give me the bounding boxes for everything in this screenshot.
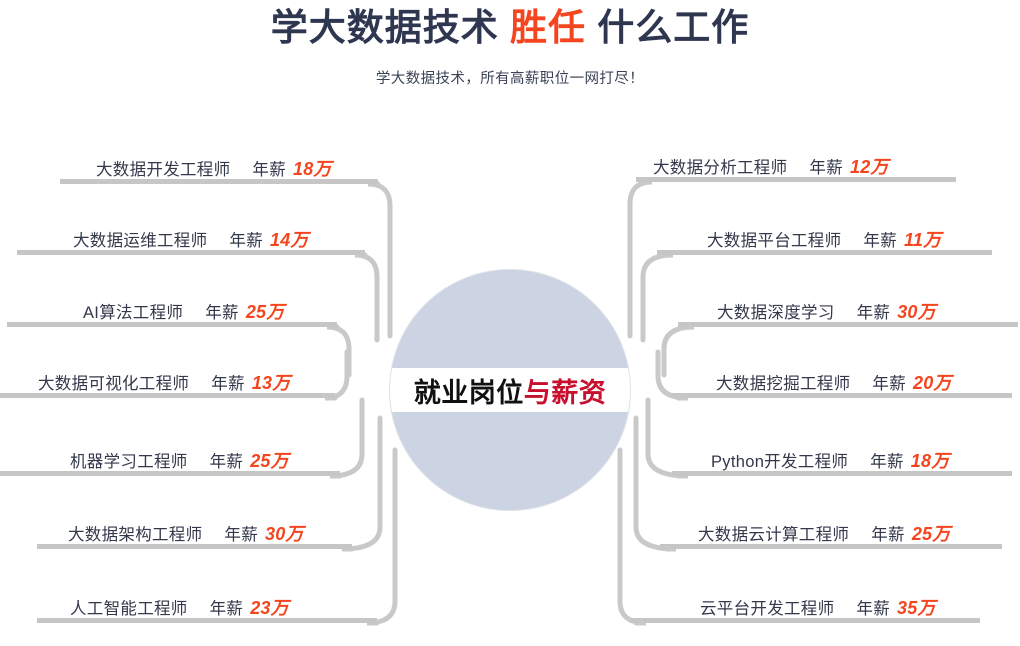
salary-value: 35万 [897, 598, 936, 618]
pay-word: 年薪 [210, 453, 244, 471]
list-item[interactable]: 人工智能工程师年薪23万 [70, 594, 289, 620]
job-title: AI算法工程师 [83, 304, 183, 322]
job-title: 机器学习工程师 [70, 453, 188, 471]
item-rule [672, 471, 1012, 476]
pay-word: 年薪 [863, 232, 897, 250]
job-title: 人工智能工程师 [70, 600, 188, 618]
list-item[interactable]: 大数据分析工程师年薪12万 [653, 153, 889, 179]
item-rule [0, 393, 335, 398]
salary-value: 18万 [911, 451, 950, 471]
item-rule [17, 250, 365, 255]
pay-word: 年薪 [210, 600, 244, 618]
job-title: 大数据平台工程师 [707, 232, 841, 250]
salary-value: 25万 [246, 302, 285, 322]
item-rule [660, 544, 1002, 549]
item-rule [37, 618, 377, 623]
salary-value: 14万 [270, 230, 309, 250]
salary-value: 25万 [912, 524, 951, 544]
item-rule [636, 177, 956, 182]
pay-word: 年薪 [872, 375, 906, 393]
salary-value: 12万 [850, 157, 889, 177]
job-title: Python开发工程师 [711, 453, 848, 471]
job-title: 大数据架构工程师 [68, 526, 202, 544]
list-item[interactable]: 大数据挖掘工程师年薪20万 [716, 369, 952, 395]
wire-right-6 [636, 418, 676, 549]
salary-value: 18万 [293, 159, 332, 179]
wire-right-2 [643, 255, 673, 340]
job-title: 大数据挖掘工程师 [716, 375, 850, 393]
salary-value: 30万 [897, 302, 936, 322]
hub-label: 就业岗位与薪资 [414, 371, 607, 410]
salary-value: 11万 [904, 230, 941, 250]
job-title: 大数据云计算工程师 [698, 526, 849, 544]
pay-word: 年薪 [856, 600, 890, 618]
item-rule [60, 179, 378, 184]
wire-right-3 [664, 327, 694, 375]
pay-word: 年薪 [857, 304, 891, 322]
pay-word: 年薪 [224, 526, 258, 544]
wire-right-5 [648, 400, 688, 476]
wire-left-5 [330, 400, 362, 476]
list-item[interactable]: 大数据平台工程师年薪11万 [707, 226, 941, 252]
job-title: 大数据分析工程师 [653, 159, 787, 177]
job-title: 大数据深度学习 [717, 304, 835, 322]
salary-value: 25万 [250, 451, 289, 471]
item-rule [657, 250, 992, 255]
list-item[interactable]: 大数据深度学习年薪30万 [717, 298, 936, 324]
item-rule [678, 322, 1018, 327]
list-item[interactable]: Python开发工程师年薪18万 [711, 447, 949, 473]
pay-word: 年薪 [871, 526, 905, 544]
salary-value: 20万 [913, 373, 952, 393]
list-item[interactable]: AI算法工程师年薪25万 [83, 298, 284, 324]
wire-left-2 [355, 255, 377, 340]
list-item[interactable]: 大数据运维工程师年薪14万 [73, 226, 309, 252]
pay-word: 年薪 [211, 375, 245, 393]
wire-left-4 [325, 352, 347, 398]
pay-word: 年薪 [205, 304, 239, 322]
item-rule [672, 393, 1012, 398]
pay-word: 年薪 [809, 159, 843, 177]
infographic-canvas: 学大数据技术 胜任 什么工作 学大数据技术，所有高薪职位一网打尽！ 就业岗位与薪… [0, 0, 1020, 646]
list-item[interactable]: 机器学习工程师年薪25万 [70, 447, 289, 473]
item-rule [37, 544, 352, 549]
salary-value: 13万 [252, 373, 291, 393]
hub-label-accent: 与薪资 [524, 378, 607, 408]
job-title: 大数据开发工程师 [96, 161, 230, 179]
pay-word: 年薪 [229, 232, 263, 250]
list-item[interactable]: 大数据云计算工程师年薪25万 [698, 520, 950, 546]
job-title: 云平台开发工程师 [700, 600, 834, 618]
item-rule [0, 471, 340, 476]
center-hub: 就业岗位与薪资 [389, 269, 631, 511]
salary-value: 23万 [250, 598, 289, 618]
item-rule [7, 322, 337, 327]
salary-value: 30万 [265, 524, 304, 544]
list-item[interactable]: 大数据开发工程师年薪18万 [96, 155, 332, 181]
job-title: 大数据运维工程师 [73, 232, 207, 250]
hub-label-main: 就业岗位 [414, 378, 524, 408]
list-item[interactable]: 大数据架构工程师年薪30万 [68, 520, 304, 546]
wire-right-7 [620, 450, 646, 623]
list-item[interactable]: 大数据可视化工程师年薪13万 [38, 369, 290, 395]
pay-word: 年薪 [870, 453, 904, 471]
pay-word: 年薪 [252, 161, 286, 179]
job-title: 大数据可视化工程师 [38, 375, 189, 393]
list-item[interactable]: 云平台开发工程师年薪35万 [700, 594, 936, 620]
item-rule [630, 618, 980, 623]
